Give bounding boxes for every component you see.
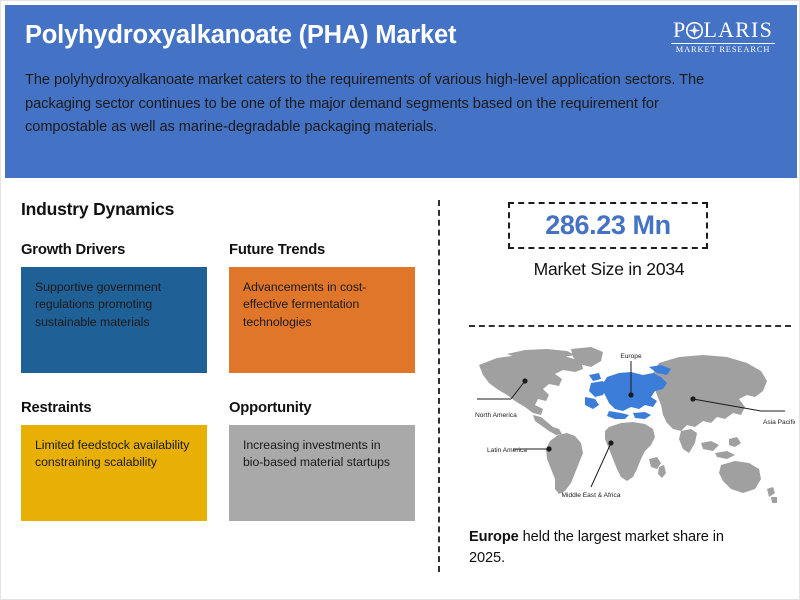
logo-word-left: P: [673, 19, 686, 41]
industry-dynamics-heading: Industry Dynamics: [21, 199, 174, 220]
page-title: Polyhydroxyalkanoate (PHA) Market: [25, 21, 665, 50]
quadrant-box-future-trends: Advancements in cost-effective fermentat…: [229, 267, 415, 373]
horizontal-dashed-divider: [469, 325, 791, 327]
map-label-asia-pacific: Asia Pacific: [763, 419, 795, 426]
quadrant-label-future-trends: Future Trends: [229, 242, 325, 258]
vertical-dashed-divider: [438, 200, 440, 572]
quadrant-text-future-trends: Advancements in cost-effective fermentat…: [243, 279, 401, 331]
logo-word-right: LARIS: [703, 19, 773, 41]
quadrant-label-opportunity: Opportunity: [229, 400, 311, 416]
compass-star-icon: [686, 22, 703, 39]
quadrant-text-opportunity: Increasing investments in bio-based mate…: [243, 437, 401, 472]
quadrant-box-restraints: Limited feedstock availability constrain…: [21, 425, 207, 521]
quadrant-box-opportunity: Increasing investments in bio-based mate…: [229, 425, 415, 521]
map-label-north-america: North America: [475, 412, 517, 419]
header-banner: Polyhydroxyalkanoate (PHA) Market The po…: [5, 5, 797, 178]
header-description: The polyhydroxyalkanoate market caters t…: [25, 69, 725, 140]
map-footnote-region: Europe: [469, 529, 519, 545]
quadrant-label-growth-drivers: Growth Drivers: [21, 242, 125, 258]
infographic-page: Polyhydroxyalkanoate (PHA) Market The po…: [0, 0, 800, 600]
map-label-middle-east-africa: Middle East & Africa: [561, 492, 620, 499]
logo-wordmark: P LARIS: [667, 19, 779, 41]
polaris-market-research-logo: P LARIS MARKET RESEARCH: [667, 19, 779, 54]
quadrant-text-growth-drivers: Supportive government regulations promot…: [35, 279, 193, 331]
map-landmasses-base: [479, 347, 777, 503]
logo-divider-rule: [671, 43, 775, 44]
logo-subtitle: MARKET RESEARCH: [667, 45, 779, 54]
market-size-figure-box: 286.23 Mn: [508, 202, 708, 249]
quadrant-text-restraints: Limited feedstock availability constrain…: [35, 437, 193, 472]
quadrant-box-growth-drivers: Supportive government regulations promot…: [21, 267, 207, 373]
map-label-latin-america: Latin America: [487, 447, 527, 454]
world-map: Europe North America Latin America Middl…: [463, 339, 795, 511]
map-footnote: Europe held the largest market share in …: [469, 527, 759, 568]
quadrant-label-restraints: Restraints: [21, 400, 91, 416]
market-size-caption: Market Size in 2034: [469, 259, 749, 280]
market-size-value: 286.23 Mn: [545, 210, 670, 241]
map-label-europe: Europe: [620, 353, 642, 360]
